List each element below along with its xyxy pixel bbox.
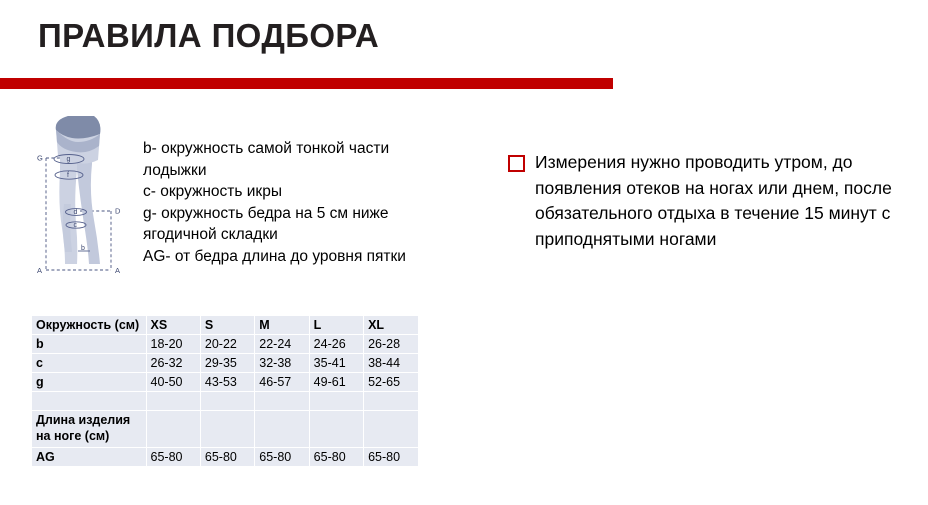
slide: ПРАВИЛА ПОДБОРА: [0, 0, 928, 505]
table-cell: 26-32: [146, 354, 200, 373]
diagram-marker-c: c: [74, 222, 78, 229]
table-row-label: b: [32, 335, 146, 354]
diagram-marker-g: g: [67, 156, 71, 163]
square-bullet-icon: [508, 155, 525, 172]
diagram-marker-f: f: [67, 172, 69, 179]
size-table: Окружность (см) XS S M L XL b 18-20 20-2…: [32, 316, 418, 466]
measurement-note: Измерения нужно проводить утром, до появ…: [508, 150, 913, 252]
table-cell: 65-80: [309, 448, 363, 467]
diagram-marker-b: b: [81, 245, 85, 252]
diagram-corner-D: D: [115, 207, 121, 216]
table-cell: 18-20: [146, 335, 200, 354]
legend-line-c: c- окружность икры: [143, 181, 443, 203]
table-cell: 24-26: [309, 335, 363, 354]
table-cell: [146, 411, 200, 448]
table-row: c 26-32 29-35 32-38 35-41 38-44: [32, 354, 418, 373]
table-cell: 32-38: [255, 354, 309, 373]
table-header-cell: S: [200, 316, 254, 335]
table-cell: 65-80: [255, 448, 309, 467]
table-row: g 40-50 43-53 46-57 49-61 52-65: [32, 373, 418, 392]
diagram-marker-d: d: [74, 209, 78, 216]
table-cell: [364, 411, 418, 448]
table-cell: 20-22: [200, 335, 254, 354]
table-cell: 65-80: [364, 448, 418, 467]
table-header-cell: XL: [364, 316, 418, 335]
table-row: AG 65-80 65-80 65-80 65-80 65-80: [32, 448, 418, 467]
table-cell: 38-44: [364, 354, 418, 373]
table-row: Длина изделия на ноге (см): [32, 411, 418, 448]
table-row-label: g: [32, 373, 146, 392]
table-cell: 65-80: [200, 448, 254, 467]
table-cell: 26-28: [364, 335, 418, 354]
diagram-corner-A-right: A: [115, 266, 120, 275]
table-cell: 35-41: [309, 354, 363, 373]
table-cell: 46-57: [255, 373, 309, 392]
table-row-label: c: [32, 354, 146, 373]
table-cell: [309, 411, 363, 448]
table-header-cell: XS: [146, 316, 200, 335]
diagram-corner-G: G: [37, 154, 43, 163]
size-table-container: Окружность (см) XS S M L XL b 18-20 20-2…: [32, 316, 418, 466]
page-title: ПРАВИЛА ПОДБОРА: [38, 17, 379, 55]
measurement-note-text: Измерения нужно проводить утром, до появ…: [535, 150, 910, 252]
measurement-legend: b- окружность самой тонкой части лодыжки…: [143, 138, 443, 267]
table-header-cell: Окружность (см): [32, 316, 146, 335]
table-cell: [364, 392, 418, 411]
table-cell: 65-80: [146, 448, 200, 467]
table-cell: [146, 392, 200, 411]
legend-line-g: g- окружность бедра на 5 см ниже ягодичн…: [143, 203, 443, 246]
table-spacer-row: [32, 392, 418, 411]
table-cell: [309, 392, 363, 411]
legend-line-b: b- окружность самой тонкой части лодыжки: [143, 138, 443, 181]
table-header-row: Окружность (см) XS S M L XL: [32, 316, 418, 335]
table-header-cell: L: [309, 316, 363, 335]
title-accent-rule: [0, 78, 613, 89]
table-cell: [200, 411, 254, 448]
legend-line-ag: AG- от бедра длина до уровня пятки: [143, 246, 443, 268]
table-cell: 22-24: [255, 335, 309, 354]
diagram-corner-A-left: A: [37, 266, 42, 275]
table-cell: 40-50: [146, 373, 200, 392]
table-row: b 18-20 20-22 22-24 24-26 26-28: [32, 335, 418, 354]
table-row-label: Длина изделия на ноге (см): [32, 411, 146, 448]
table-cell: [255, 411, 309, 448]
table-cell: [200, 392, 254, 411]
table-row-label: AG: [32, 448, 146, 467]
table-row-label: [32, 392, 146, 411]
table-cell: [255, 392, 309, 411]
leg-measurement-diagram: g f d c b G D A A: [34, 112, 144, 287]
table-cell: 29-35: [200, 354, 254, 373]
table-cell: 49-61: [309, 373, 363, 392]
table-cell: 52-65: [364, 373, 418, 392]
table-header-cell: M: [255, 316, 309, 335]
table-cell: 43-53: [200, 373, 254, 392]
